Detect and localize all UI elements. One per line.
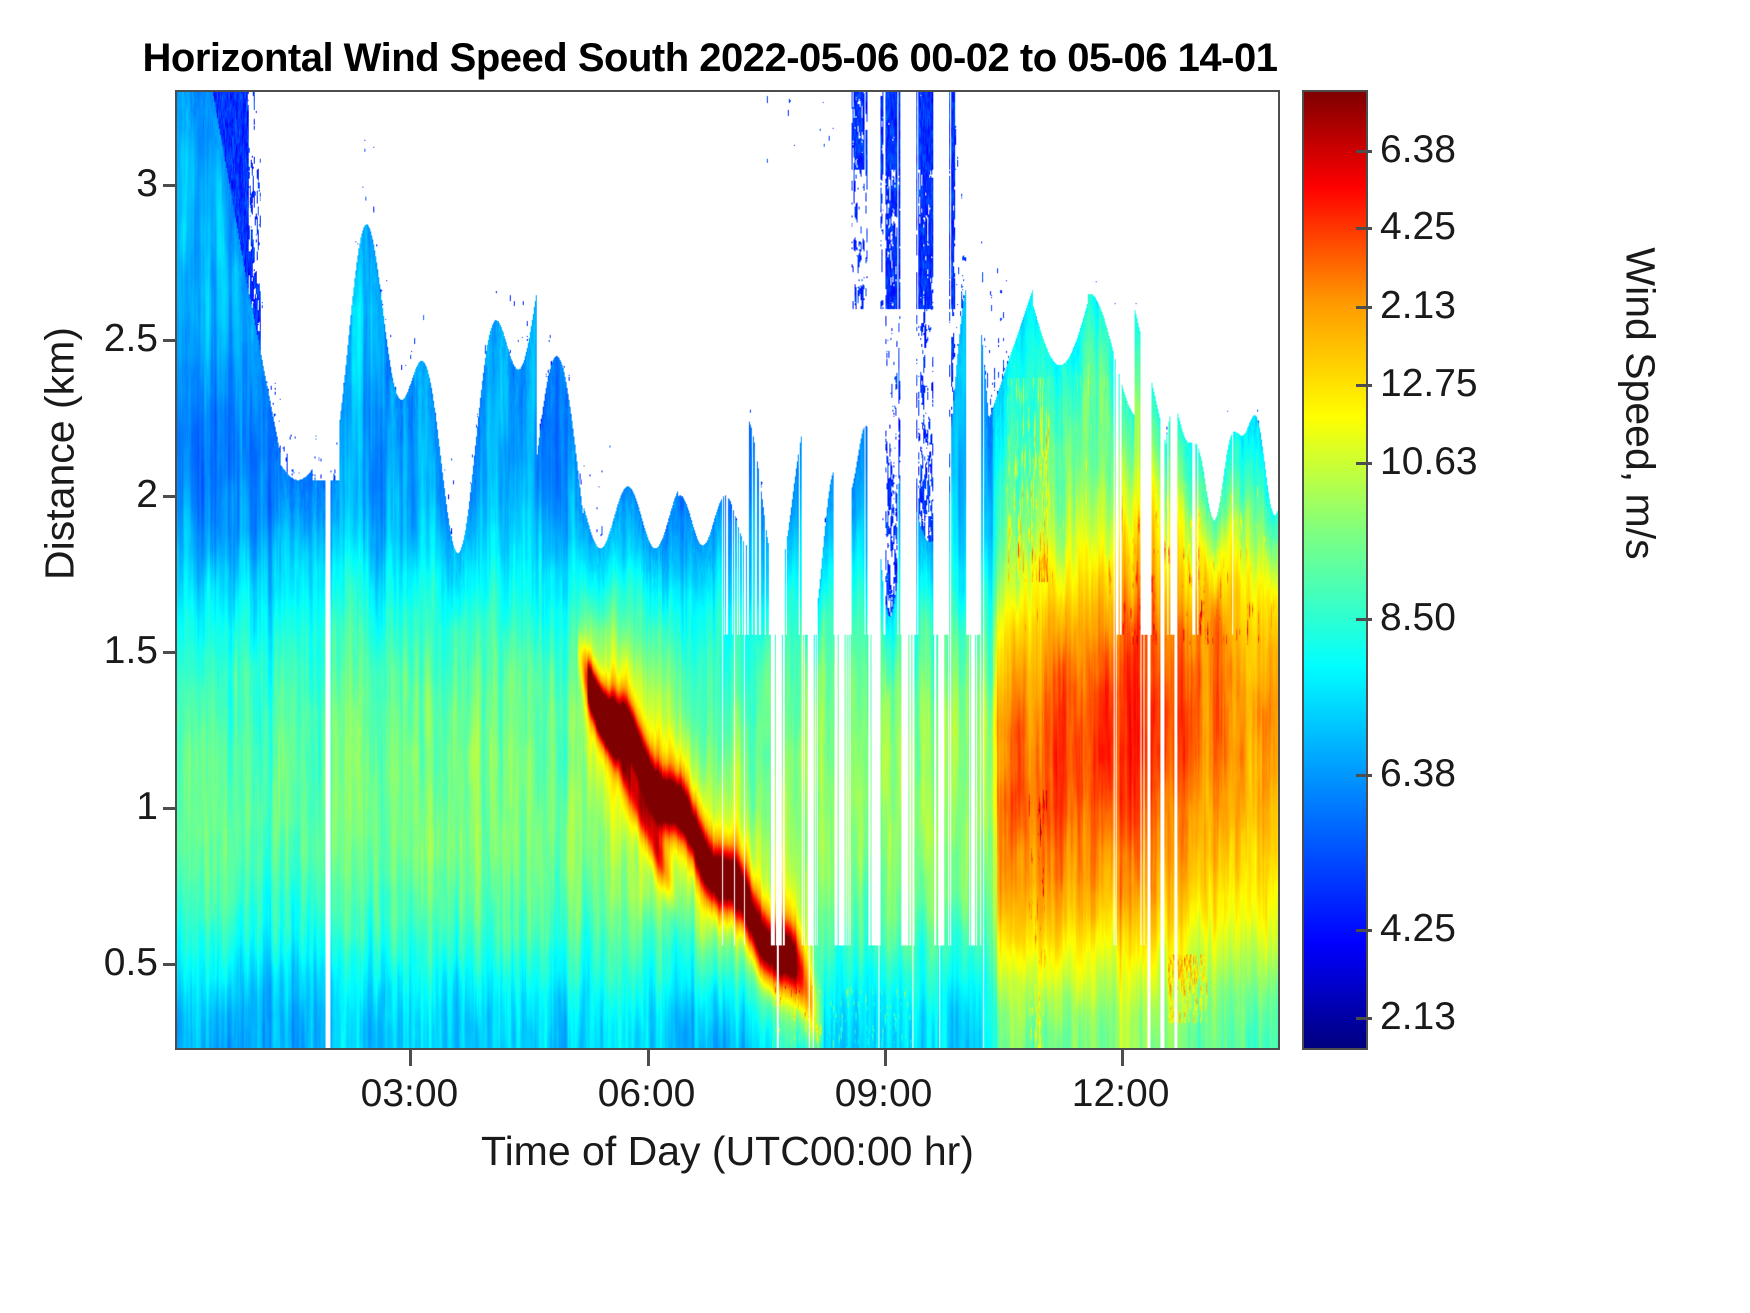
page-title: Horizontal Wind Speed South 2022-05-06 0… — [0, 36, 1420, 81]
colorbar-tick-mark — [1356, 929, 1372, 932]
y-tick-mark — [163, 963, 177, 966]
y-tick-label: 3 — [136, 162, 158, 206]
colorbar-tick-label: 6.38 — [1380, 752, 1456, 796]
colorbar[interactable] — [1302, 90, 1368, 1050]
colorbar-tick-label: 4.25 — [1380, 205, 1456, 249]
colorbar-tick-mark — [1356, 150, 1372, 153]
x-tick-label: 09:00 — [835, 1072, 933, 1116]
colorbar-tick-label: 2.13 — [1380, 284, 1456, 328]
colorbar-tick-label: 10.63 — [1380, 440, 1478, 484]
y-tick-mark — [163, 651, 177, 654]
figure-canvas: Horizontal Wind Speed South 2022-05-06 0… — [0, 0, 1750, 1313]
colorbar-tick-label: 4.25 — [1380, 907, 1456, 951]
x-tick-label: 12:00 — [1072, 1072, 1170, 1116]
x-axis-label: Time of Day (UTC00:00 hr) — [175, 1128, 1280, 1175]
y-tick-label: 1.5 — [104, 629, 158, 673]
colorbar-tick-mark — [1356, 462, 1372, 465]
colorbar-tick-label: 6.38 — [1380, 128, 1456, 172]
colorbar-tick-mark — [1356, 774, 1372, 777]
colorbar-tick-label: 12.75 — [1380, 362, 1478, 406]
y-tick-mark — [163, 339, 177, 342]
heatmap-plot-area[interactable] — [175, 90, 1280, 1050]
colorbar-tick-mark — [1356, 1017, 1372, 1020]
y-tick-mark — [163, 184, 177, 187]
colorbar-tick-label: 8.50 — [1380, 596, 1456, 640]
x-tick-mark — [647, 1050, 650, 1066]
y-tick-mark — [163, 495, 177, 498]
colorbar-tick-mark — [1356, 227, 1372, 230]
y-tick-mark — [163, 807, 177, 810]
colorbar-tick-mark — [1356, 618, 1372, 621]
y-tick-label: 1 — [136, 785, 158, 829]
colorbar-gradient — [1304, 92, 1366, 1048]
colorbar-tick-mark — [1356, 384, 1372, 387]
heatmap-image — [177, 92, 1278, 1048]
colorbar-label: Wind Speed, m/s — [1617, 104, 1664, 704]
colorbar-tick-mark — [1356, 306, 1372, 309]
colorbar-tick-label: 2.13 — [1380, 995, 1456, 1039]
x-tick-label: 06:00 — [598, 1072, 696, 1116]
y-tick-label: 2 — [136, 473, 158, 517]
x-tick-mark — [1121, 1050, 1124, 1066]
y-tick-label: 0.5 — [104, 941, 158, 985]
y-tick-label: 2.5 — [104, 317, 158, 361]
x-tick-label: 03:00 — [361, 1072, 459, 1116]
x-tick-mark — [409, 1050, 412, 1066]
y-axis-label: Distance (km) — [37, 154, 84, 754]
x-tick-mark — [884, 1050, 887, 1066]
